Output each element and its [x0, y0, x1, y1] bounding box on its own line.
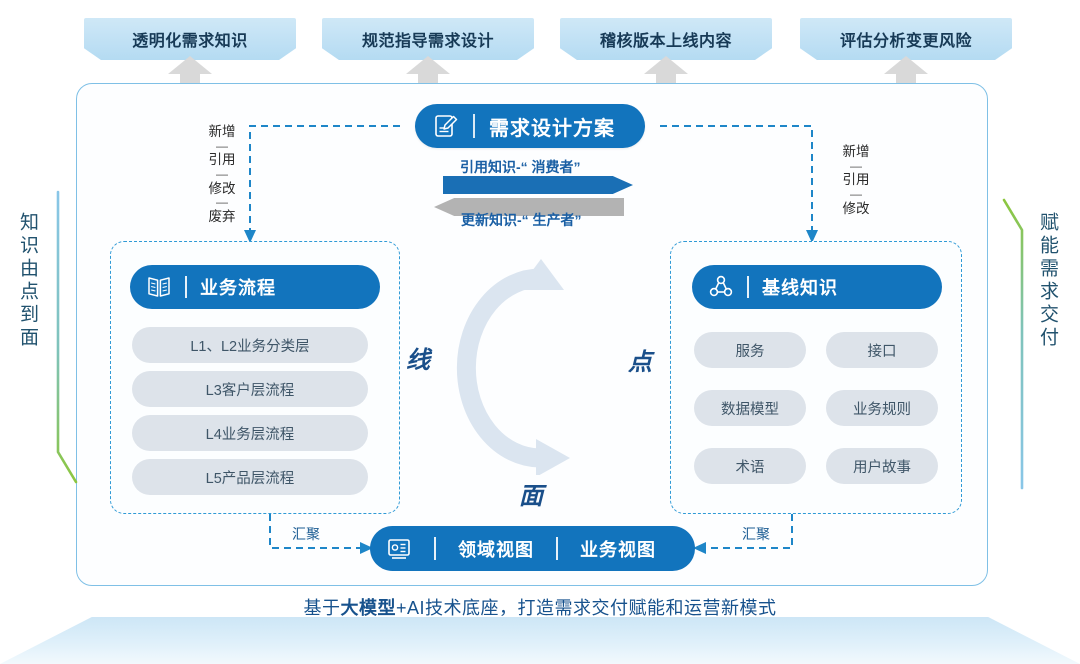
business-process-item[interactable]: L3客户层流程 — [132, 371, 368, 407]
domain-view-label: 领域视图 — [458, 536, 534, 562]
annotation-divider: — — [196, 196, 248, 209]
network-nodes-icon — [708, 274, 734, 300]
left-annotation-item: 新增 — [196, 124, 248, 140]
open-book-icon — [146, 275, 172, 299]
chip-label: L4业务层流程 — [206, 423, 295, 444]
cycle-label-right: 点 — [628, 342, 652, 377]
business-process-title: 业务流程 — [200, 274, 276, 300]
baseline-knowledge-item[interactable]: 术语 — [694, 448, 806, 484]
annotation-divider: — — [830, 188, 882, 201]
diagram-root: 透明化需求知识 规范指导需求设计 稽核版本上线内容 评估分析变更风险 — [0, 0, 1080, 664]
consume-arrow — [443, 176, 633, 194]
banner-prefix: 基于 — [303, 598, 340, 618]
view-board-icon — [386, 537, 412, 561]
business-process-header[interactable]: 业务流程 — [130, 265, 380, 309]
left-annotation-item: 修改 — [196, 181, 248, 197]
view-divider-2 — [556, 537, 558, 560]
right-annotation-item: 修改 — [830, 201, 882, 217]
left-annotation-stack: 新增 — 引用 — 修改 — 废弃 — [196, 124, 248, 224]
baseline-knowledge-header[interactable]: 基线知识 — [692, 265, 942, 309]
chip-label: 服务 — [736, 340, 765, 361]
right-side-label: 赋能需求交付 — [1034, 212, 1061, 350]
chip-label: L3客户层流程 — [206, 379, 295, 400]
banner-suffix: +AI技术底座，打造需求交付赋能和运营新模式 — [396, 598, 777, 618]
document-edit-icon — [433, 113, 459, 139]
banner-strong: 大模型 — [340, 598, 396, 618]
baseline-knowledge-item[interactable]: 用户故事 — [826, 448, 938, 484]
baseline-knowledge-item[interactable]: 业务规则 — [826, 390, 938, 426]
baseline-knowledge-item[interactable]: 接口 — [826, 332, 938, 368]
left-annotation-item: 废弃 — [196, 209, 248, 225]
business-view-label: 业务视图 — [580, 536, 656, 562]
chip-label: 业务规则 — [853, 398, 911, 419]
chip-label: 接口 — [868, 340, 897, 361]
annotation-divider: — — [830, 160, 882, 173]
chip-label: 用户故事 — [853, 456, 911, 477]
business-process-item[interactable]: L4业务层流程 — [132, 415, 368, 451]
cycle-arrow-icon — [440, 245, 640, 475]
pill-divider — [473, 114, 475, 138]
chip-label: 数据模型 — [721, 398, 779, 419]
consume-arrow-label: 引用知识-“ 消费者” — [460, 157, 581, 177]
panel-divider — [747, 276, 749, 298]
bottom-banner-text: 基于大模型+AI技术底座，打造需求交付赋能和运营新模式 — [0, 594, 1080, 620]
chip-label: 术语 — [736, 456, 765, 477]
requirement-design-pill[interactable]: 需求设计方案 — [415, 104, 645, 148]
converge-label-right: 汇聚 — [742, 524, 770, 544]
right-annotation-item: 引用 — [830, 172, 882, 188]
left-annotation-item: 引用 — [196, 152, 248, 168]
left-side-label: 知识由点到面 — [14, 212, 41, 350]
baseline-knowledge-title: 基线知识 — [762, 274, 838, 300]
annotation-divider: — — [196, 140, 248, 153]
left-side-flow-line — [36, 190, 78, 490]
converge-label-left: 汇聚 — [292, 524, 320, 544]
chip-label: L5产品层流程 — [206, 467, 295, 488]
baseline-knowledge-item[interactable]: 服务 — [694, 332, 806, 368]
right-annotation-stack: 新增 — 引用 — 修改 — [830, 144, 882, 216]
baseline-knowledge-item[interactable]: 数据模型 — [694, 390, 806, 426]
requirement-design-title: 需求设计方案 — [489, 112, 615, 141]
annotation-divider: — — [196, 168, 248, 181]
produce-arrow-label: 更新知识-“ 生产者” — [461, 210, 582, 230]
cycle-label-bottom: 面 — [519, 476, 543, 511]
view-divider-1 — [434, 537, 436, 560]
panel-divider — [185, 276, 187, 298]
chip-label: L1、L2业务分类层 — [190, 335, 309, 356]
right-annotation-item: 新增 — [830, 144, 882, 160]
bottom-banner-shape — [0, 617, 1080, 664]
business-process-item[interactable]: L5产品层流程 — [132, 459, 368, 495]
business-process-item[interactable]: L1、L2业务分类层 — [132, 327, 368, 363]
cycle-label-left: 线 — [406, 340, 430, 375]
view-pill[interactable]: 领域视图 业务视图 — [370, 526, 695, 571]
